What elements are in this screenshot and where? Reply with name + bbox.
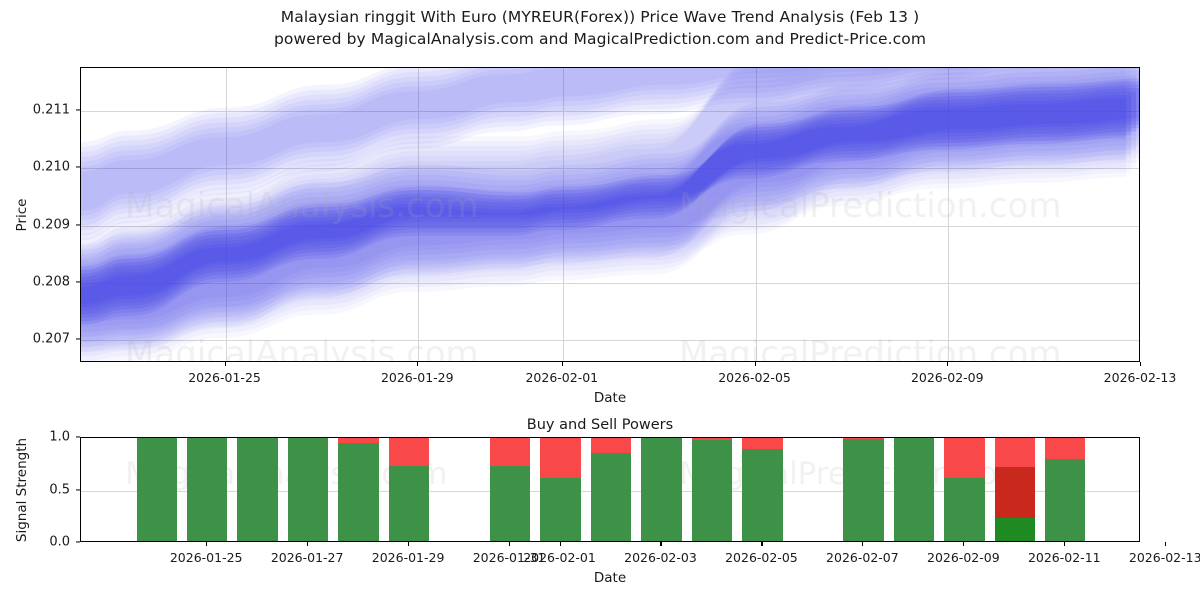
signal-bar-buy-segment	[995, 518, 1035, 541]
price-x-tick-mark	[562, 362, 563, 366]
signal-bar-sell-segment	[742, 438, 782, 449]
figure-root: Malaysian ringgit With Euro (MYREUR(Fore…	[0, 0, 1200, 600]
signal-x-tick-label: 2026-01-27	[271, 550, 344, 565]
price-x-tick-label: 2026-02-09	[911, 370, 984, 385]
signal-bar[interactable]	[692, 438, 732, 541]
price-x-axis-title: Date	[594, 390, 626, 406]
signal-bar[interactable]	[389, 438, 429, 541]
signal-y-tick-mark	[76, 541, 80, 542]
signal-bar-buy-segment	[894, 438, 934, 541]
price-y-tick-mark	[76, 109, 80, 110]
signal-bar-buy-segment	[591, 453, 631, 541]
signal-chart-axes: MagicalAnalysis.comMagicalPrediction.com	[80, 437, 1140, 542]
signal-bar-buy-segment	[1045, 459, 1085, 541]
signal-bar-buy-segment	[843, 439, 883, 541]
signal-bar[interactable]	[540, 438, 580, 541]
signal-x-tick-mark	[560, 542, 561, 546]
price-y-tick-mark	[76, 167, 80, 168]
signal-x-tick-label: 2026-02-05	[725, 550, 798, 565]
price-y-tick-mark	[76, 281, 80, 282]
signal-bar[interactable]	[1045, 438, 1085, 541]
signal-x-tick-mark	[963, 542, 964, 546]
signal-bar[interactable]	[591, 438, 631, 541]
signal-bar-sell-segment	[843, 438, 883, 439]
signal-bar-buy-segment	[540, 478, 580, 541]
price-y-tick-mark	[76, 224, 80, 225]
signal-bar[interactable]	[742, 438, 782, 541]
signal-chart-title: Buy and Sell Powers	[0, 417, 1200, 433]
signal-x-tick-mark	[408, 542, 409, 546]
price-x-tick-mark	[947, 362, 948, 366]
signal-x-tick-mark	[660, 542, 661, 546]
signal-y-tick-label: 0.5	[0, 482, 70, 497]
signal-bar-buy-segment	[187, 438, 227, 541]
signal-bar-buy-segment	[288, 438, 328, 541]
signal-bar-buy-segment	[389, 466, 429, 541]
signal-bar[interactable]	[187, 438, 227, 541]
signal-y-tick-label: 0.0	[0, 535, 70, 550]
signal-bar[interactable]	[894, 438, 934, 541]
signal-x-tick-mark	[1064, 542, 1065, 546]
signal-x-tick-label: 2026-02-03	[624, 550, 697, 565]
signal-plot-area: MagicalAnalysis.comMagicalPrediction.com	[81, 438, 1139, 541]
signal-x-tick-mark	[1165, 542, 1166, 546]
signal-x-tick-label: 2026-02-09	[927, 550, 1000, 565]
signal-y-axis-title: Signal Strength	[14, 437, 30, 541]
signal-bar[interactable]	[338, 438, 378, 541]
price-y-tick-mark	[76, 339, 80, 340]
price-x-tick-label: 2026-01-25	[188, 370, 261, 385]
signal-bar-sell-dark-segment	[995, 467, 1035, 518]
signal-bar-buy-segment	[692, 440, 732, 541]
figure-title-line1: Malaysian ringgit With Euro (MYREUR(Fore…	[0, 8, 1200, 26]
price-wave-chart-axes: MagicalAnalysis.comMagicalPrediction.com…	[80, 67, 1140, 362]
signal-bar-sell-segment	[389, 438, 429, 466]
signal-bar-sell-segment	[692, 438, 732, 440]
price-x-tick-mark	[1140, 362, 1141, 366]
signal-bar[interactable]	[490, 438, 530, 541]
signal-y-tick-mark	[76, 436, 80, 437]
signal-x-axis-title: Date	[594, 570, 626, 586]
signal-bar-sell-segment	[1045, 438, 1085, 459]
signal-bar[interactable]	[843, 438, 883, 541]
signal-bar-buy-segment	[490, 466, 530, 541]
signal-bar-sell-segment	[338, 438, 378, 443]
signal-bar-buy-segment	[137, 438, 177, 541]
signal-bar-sell-segment	[944, 438, 984, 478]
price-x-tick-label: 2026-01-29	[381, 370, 454, 385]
price-wave-bands	[81, 68, 1139, 361]
signal-bar-sell-segment	[490, 438, 530, 466]
price-y-axis-title: Price	[14, 198, 30, 231]
signal-x-tick-label: 2026-01-25	[170, 550, 243, 565]
price-x-tick-mark	[417, 362, 418, 366]
price-y-tick-label: 0.209	[0, 217, 70, 232]
signal-bar-buy-segment	[237, 438, 277, 541]
figure-title-line2: powered by MagicalAnalysis.com and Magic…	[0, 30, 1200, 48]
signal-bar-buy-segment	[641, 438, 681, 541]
signal-bar-buy-segment	[742, 449, 782, 541]
signal-x-tick-mark	[206, 542, 207, 546]
price-plot-area: MagicalAnalysis.comMagicalPrediction.com…	[81, 68, 1139, 361]
signal-x-tick-label: 2026-02-11	[1028, 550, 1101, 565]
signal-bar-sell-segment	[591, 438, 631, 453]
signal-bar-buy-segment	[338, 443, 378, 541]
signal-x-tick-mark	[509, 542, 510, 546]
price-x-tick-label: 2026-02-05	[718, 370, 791, 385]
price-y-tick-label: 0.207	[0, 332, 70, 347]
signal-bar[interactable]	[288, 438, 328, 541]
signal-x-tick-label: 2026-02-01	[523, 550, 596, 565]
signal-x-tick-mark	[761, 542, 762, 546]
price-x-tick-label: 2026-02-01	[525, 370, 598, 385]
price-x-tick-label: 2026-02-13	[1104, 370, 1177, 385]
signal-x-tick-label: 2026-02-07	[826, 550, 899, 565]
signal-bar[interactable]	[641, 438, 681, 541]
signal-y-tick-mark	[76, 489, 80, 490]
price-y-tick-label: 0.211	[0, 102, 70, 117]
price-y-tick-label: 0.210	[0, 160, 70, 175]
signal-bar-buy-segment	[944, 478, 984, 541]
price-y-tick-label: 0.208	[0, 274, 70, 289]
signal-y-tick-label: 1.0	[0, 430, 70, 445]
signal-bar-sell-segment	[540, 438, 580, 478]
signal-bar[interactable]	[995, 438, 1035, 541]
signal-bar[interactable]	[137, 438, 177, 541]
signal-x-tick-mark	[862, 542, 863, 546]
signal-x-tick-mark	[307, 542, 308, 546]
price-x-tick-mark	[225, 362, 226, 366]
signal-bar[interactable]	[944, 438, 984, 541]
signal-x-tick-label: 2026-02-13	[1129, 550, 1200, 565]
price-x-tick-mark	[755, 362, 756, 366]
signal-bar[interactable]	[237, 438, 277, 541]
signal-x-tick-label: 2026-01-29	[372, 550, 445, 565]
